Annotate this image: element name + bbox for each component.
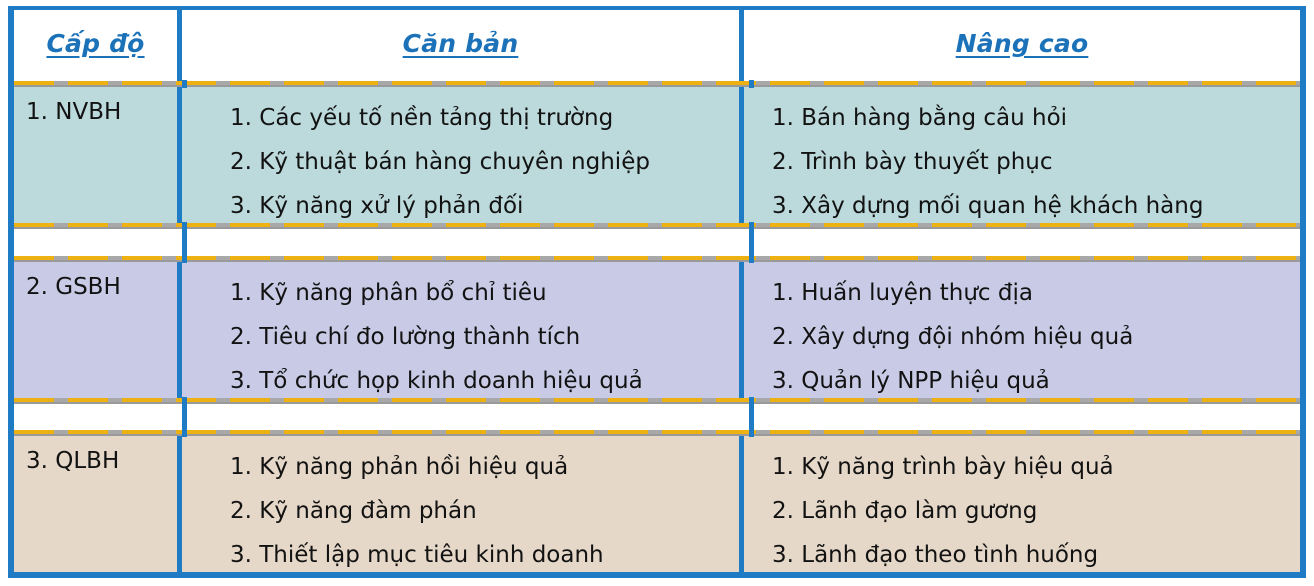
list-item: 2. Kỹ thuật bán hàng chuyên nghiệp: [230, 140, 739, 184]
level-cell-gsbh: 2. GSBH: [14, 262, 182, 398]
list-item: 2. Trình bày thuyết phục: [772, 140, 1300, 184]
column-divider-line: [182, 429, 187, 437]
row-spacer-1: [14, 229, 1300, 255]
course-list-basic: 1. Các yếu tố nền tảng thị trường 2. Kỹ …: [182, 96, 739, 228]
list-item: 1. Bán hàng bằng câu hỏi: [772, 96, 1300, 140]
list-item: 2. Tiêu chí đo lường thành tích: [230, 315, 739, 359]
slide-canvas: Cấp độ Căn bản Nâng cao 1. NVBH 1. Các y…: [0, 0, 1314, 586]
header-cell-level: Cấp độ: [14, 10, 182, 81]
list-item: 1. Các yếu tố nền tảng thị trường: [230, 96, 739, 140]
table-row-gsbh: 2. GSBH 1. Kỹ năng phân bổ chỉ tiêu 2. T…: [14, 262, 1300, 398]
column-divider-line: [749, 404, 754, 430]
level-label: 1. NVBH: [14, 96, 177, 127]
table-row-qlbh: 3. QLBH 1. Kỹ năng phản hồi hiệu quả 2. …: [14, 436, 1300, 572]
table-row-nvbh: 1. NVBH 1. Các yếu tố nền tảng thị trườn…: [14, 87, 1300, 223]
list-item: 2. Xây dựng đội nhóm hiệu quả: [772, 315, 1300, 359]
advanced-cell-gsbh: 1. Huấn luyện thực địa 2. Xây dựng đội n…: [744, 262, 1300, 398]
level-label: 3. QLBH: [14, 445, 177, 476]
advanced-cell-qlbh: 1. Kỹ năng trình bày hiệu quả 2. Lãnh đạ…: [744, 436, 1300, 572]
column-divider-line: [749, 229, 754, 255]
column-divider-line: [182, 404, 187, 430]
table-header-row: Cấp độ Căn bản Nâng cao: [14, 10, 1300, 81]
header-label-level: Cấp độ: [46, 29, 144, 58]
list-item: 3. Kỹ năng xử lý phản đối: [230, 184, 739, 228]
level-cell-qlbh: 3. QLBH: [14, 436, 182, 572]
list-item: 1. Kỹ năng trình bày hiệu quả: [772, 445, 1300, 489]
competency-matrix-table: Cấp độ Căn bản Nâng cao 1. NVBH 1. Các y…: [8, 6, 1306, 578]
column-divider-line: [182, 229, 187, 255]
column-divider-line: [182, 80, 187, 88]
header-cell-advanced: Nâng cao: [744, 10, 1300, 81]
list-item: 3. Lãnh đạo theo tình huống: [772, 533, 1300, 577]
level-cell-nvbh: 1. NVBH: [14, 87, 182, 223]
course-list-basic: 1. Kỹ năng phản hồi hiệu quả 2. Kỹ năng …: [182, 445, 739, 577]
list-item: 1. Huấn luyện thực địa: [772, 271, 1300, 315]
header-label-basic: Căn bản: [403, 29, 519, 58]
list-item: 2. Lãnh đạo làm gương: [772, 489, 1300, 533]
row-spacer-2: [14, 404, 1300, 430]
list-item: 3. Tổ chức họp kinh doanh hiệu quả: [230, 359, 739, 403]
header-cell-basic: Căn bản: [182, 10, 744, 81]
column-divider-line: [749, 80, 754, 88]
course-list-basic: 1. Kỹ năng phân bổ chỉ tiêu 2. Tiêu chí …: [182, 271, 739, 403]
advanced-cell-nvbh: 1. Bán hàng bằng câu hỏi 2. Trình bày th…: [744, 87, 1300, 223]
header-label-advanced: Nâng cao: [956, 29, 1089, 58]
column-divider-line: [749, 255, 754, 263]
level-label: 2. GSBH: [14, 271, 177, 302]
list-item: 3. Thiết lập mục tiêu kinh doanh: [230, 533, 739, 577]
list-item: 3. Xây dựng mối quan hệ khách hàng: [772, 184, 1300, 228]
basic-cell-qlbh: 1. Kỹ năng phản hồi hiệu quả 2. Kỹ năng …: [182, 436, 744, 572]
basic-cell-nvbh: 1. Các yếu tố nền tảng thị trường 2. Kỹ …: [182, 87, 744, 223]
list-item: 3. Quản lý NPP hiệu quả: [772, 359, 1300, 403]
list-item: 1. Kỹ năng phản hồi hiệu quả: [230, 445, 739, 489]
list-item: 2. Kỹ năng đàm phán: [230, 489, 739, 533]
course-list-advanced: 1. Kỹ năng trình bày hiệu quả 2. Lãnh đạ…: [744, 445, 1300, 577]
column-divider-line: [182, 255, 187, 263]
list-item: 1. Kỹ năng phân bổ chỉ tiêu: [230, 271, 739, 315]
course-list-advanced: 1. Huấn luyện thực địa 2. Xây dựng đội n…: [744, 271, 1300, 403]
column-divider-line: [749, 429, 754, 437]
basic-cell-gsbh: 1. Kỹ năng phân bổ chỉ tiêu 2. Tiêu chí …: [182, 262, 744, 398]
course-list-advanced: 1. Bán hàng bằng câu hỏi 2. Trình bày th…: [744, 96, 1300, 228]
